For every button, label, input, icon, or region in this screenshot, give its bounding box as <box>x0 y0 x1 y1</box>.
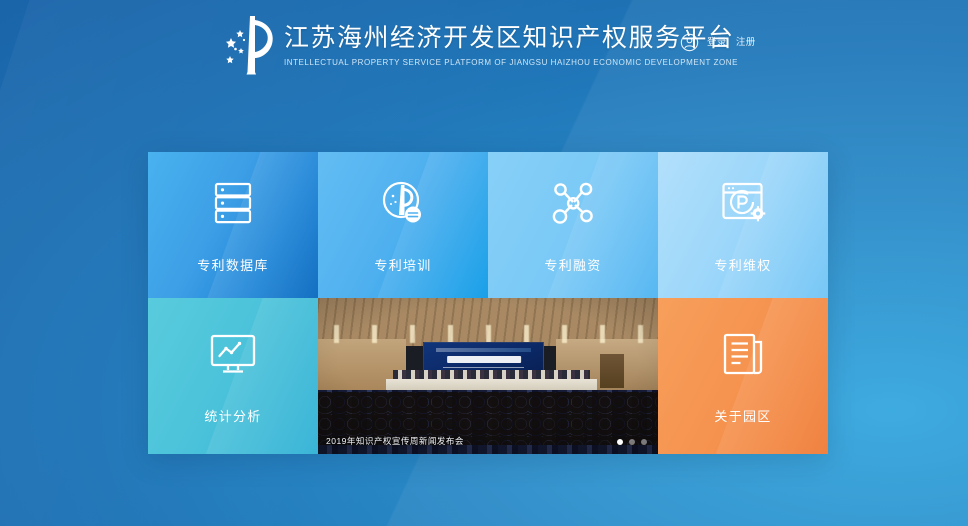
page-background: 江苏海州经济开发区知识产权服务平台 INTELLECTUAL PROPERTY … <box>0 0 968 526</box>
brand-block[interactable]: 江苏海州经济开发区知识产权服务平台 INTELLECTUAL PROPERTY … <box>222 14 738 76</box>
carousel-dots <box>617 439 647 445</box>
login-link[interactable]: 登录 <box>707 37 727 49</box>
news-carousel[interactable]: 2019年知识产权宣传周新闻发布会 <box>318 298 658 454</box>
photo-vignette <box>318 298 658 454</box>
monitor-chart-icon <box>205 326 261 382</box>
carousel-dot-1[interactable] <box>617 439 623 445</box>
site-title-en: INTELLECTUAL PROPERTY SERVICE PLATFORM O… <box>284 57 738 69</box>
tile-label: 关于园区 <box>714 408 771 426</box>
browser-patent-gear-icon <box>715 175 771 231</box>
carousel-dot-3[interactable] <box>641 439 647 445</box>
tile-patent-financing[interactable]: 专利融资 <box>488 152 658 298</box>
register-link[interactable]: 注册 <box>736 37 756 49</box>
service-tile-grid: 专利数据库 专利培训 <box>148 152 828 454</box>
site-title-cn: 江苏海州经济开发区知识产权服务平台 <box>284 21 738 55</box>
carousel-dot-2[interactable] <box>629 439 635 445</box>
tile-patent-rights[interactable]: 专利维权 <box>658 152 828 298</box>
network-nodes-icon <box>545 175 601 231</box>
user-circle-icon[interactable] <box>680 33 699 52</box>
patent-training-icon <box>375 175 431 231</box>
document-news-icon <box>715 326 771 382</box>
tile-patent-training[interactable]: 专利培训 <box>318 152 488 298</box>
carousel-photo <box>318 298 658 454</box>
tile-label: 专利数据库 <box>197 257 269 275</box>
tile-label: 专利培训 <box>374 257 431 275</box>
tower-star-p-logo-icon <box>222 14 278 76</box>
carousel-caption: 2019年知识产权宣传周新闻发布会 <box>326 435 464 447</box>
account-area: 登录 注册 <box>680 33 756 52</box>
tile-statistical-analysis[interactable]: 统计分析 <box>148 298 318 454</box>
tile-label: 专利维权 <box>714 257 771 275</box>
tile-label: 专利融资 <box>544 257 601 275</box>
tile-about-zone[interactable]: 关于园区 <box>658 298 828 454</box>
tile-patent-database[interactable]: 专利数据库 <box>148 152 318 298</box>
site-header: 江苏海州经济开发区知识产权服务平台 INTELLECTUAL PROPERTY … <box>0 0 968 92</box>
database-server-icon <box>205 175 261 231</box>
tile-label: 统计分析 <box>204 408 261 426</box>
